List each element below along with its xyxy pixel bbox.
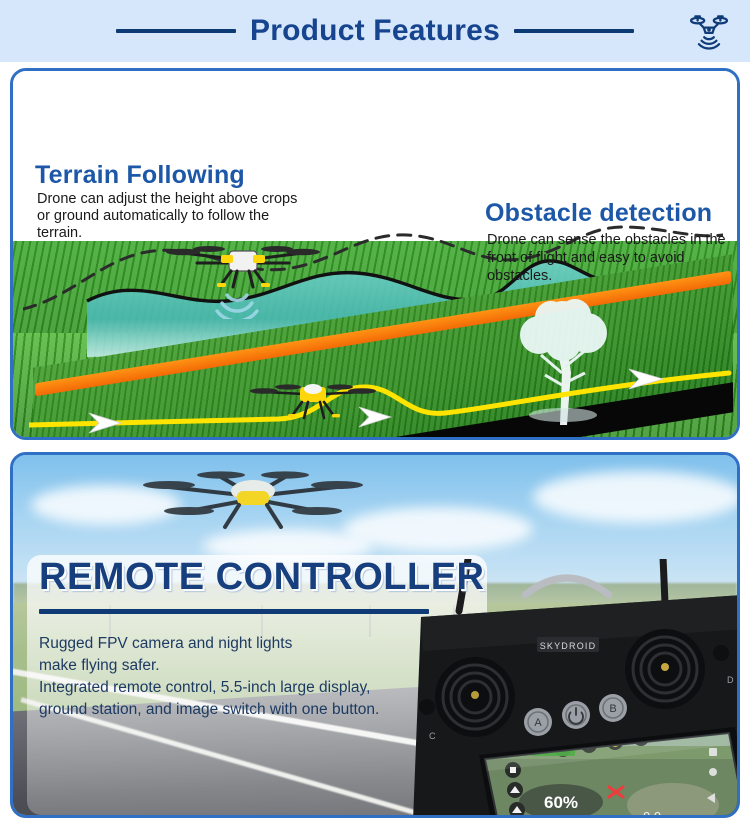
hexacopter-drone — [133, 461, 373, 533]
svg-text:0.0: 0.0 — [609, 812, 627, 818]
terrain-following-diagram: Terrain Following Drone can adjust the h… — [13, 71, 737, 437]
feature-body-terrain-following: Drone can adjust the height above crops … — [37, 191, 307, 242]
panel-remote-controller: SKYDROID A B C — [10, 452, 740, 818]
page-header: Product Features — [0, 0, 750, 62]
brand-logo: SKYDROID — [537, 637, 599, 652]
screen-percent-label: 60% — [544, 793, 578, 812]
remote-controller-title: REMOTE CONTROLLER — [39, 556, 484, 599]
feature-body-obstacle-detection: Drone can sense the obstacles in the fro… — [487, 231, 737, 285]
yellow-avoidance-path — [29, 347, 735, 437]
remote-controller-body: Rugged FPV camera and night lights make … — [39, 633, 459, 721]
carry-handle — [525, 578, 609, 595]
remote-controller-rule — [39, 609, 429, 614]
button-b: B — [599, 694, 627, 722]
right-control-stick — [625, 629, 705, 709]
feature-heading-obstacle-detection: Obstacle detection — [485, 199, 712, 228]
spraying-drone-low — [248, 376, 378, 424]
svg-text:2.1: 2.1 — [575, 815, 593, 818]
button-label-c: C — [429, 731, 436, 741]
body-line-4: ground station, and image switch with on… — [39, 699, 459, 721]
button-label-d: D — [727, 675, 734, 685]
svg-text:0.0: 0.0 — [643, 809, 661, 818]
svg-text:A: A — [534, 717, 542, 729]
cloud-shape — [533, 471, 737, 523]
page-title: Product Features — [250, 14, 500, 48]
body-line-3: Integrated remote control, 5.5-inch larg… — [39, 677, 459, 699]
header-rule-left — [116, 29, 236, 33]
svg-text:B: B — [609, 703, 616, 715]
panel-terrain-following: Terrain Following Drone can adjust the h… — [10, 68, 740, 440]
body-line-1: Rugged FPV camera and night lights — [39, 633, 459, 655]
power-button — [562, 701, 590, 729]
header-rule-right — [514, 29, 634, 33]
svg-text:SKYDROID: SKYDROID — [540, 641, 597, 651]
side-button-right — [713, 645, 729, 661]
drone-signal-icon — [688, 11, 730, 53]
product-features-page: Product Features — [0, 0, 750, 825]
button-a: A — [524, 708, 552, 736]
spraying-drone-airborne — [163, 239, 323, 295]
feature-heading-terrain-following: Terrain Following — [35, 161, 245, 190]
body-line-2: make flying safer. — [39, 655, 459, 677]
